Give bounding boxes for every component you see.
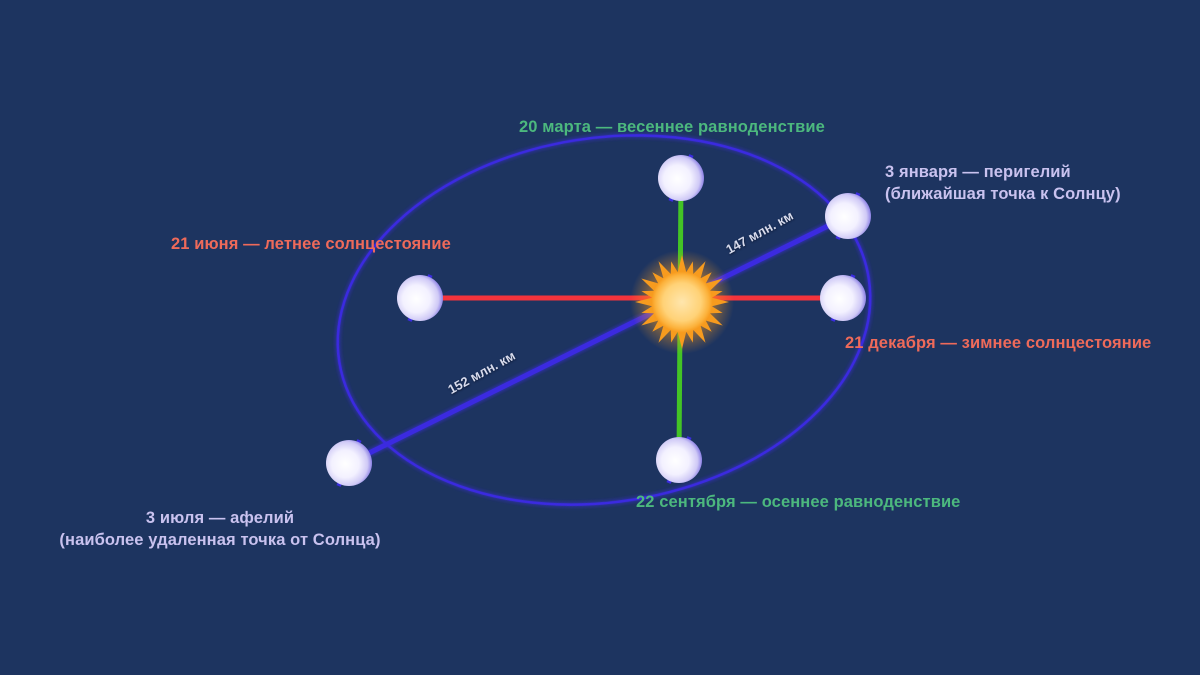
label-perihelion-line1: 3 января — перигелий [885,162,1121,184]
sun-disc [652,272,713,333]
earth-winter-solstice[interactable] [820,275,866,321]
earth-spring-equinox[interactable] [658,155,704,201]
label-summer-solstice: 21 июня — летнее солнцестояние [171,234,451,256]
label-perihelion-line2: (ближайшая точка к Солнцу) [885,184,1121,206]
earth-perihelion[interactable] [825,193,871,239]
label-aphelion-line1: 3 июля — афелий [30,508,410,530]
label-spring-equinox: 20 марта — весеннее равноденствие [519,117,825,139]
label-aphelion: 3 июля — афелий (наиболее удаленная точк… [30,508,410,552]
label-autumn-equinox: 22 сентября — осеннее равноденствие [636,492,960,514]
label-aphelion-line2: (наиболее удаленная точка от Солнца) [30,530,410,552]
earth-aphelion[interactable] [326,440,372,486]
earth-autumn-equinox[interactable] [656,437,702,483]
label-perihelion: 3 января — перигелий (ближайшая точка к … [885,162,1121,206]
diagram-canvas: 20 марта — весеннее равноденствие 3 янва… [0,0,1200,675]
orbit-ellipse [311,98,897,541]
label-winter-solstice: 21 декабря — зимнее солнцестояние [845,333,1151,355]
sun [630,250,734,354]
earth-summer-solstice[interactable] [397,275,443,321]
